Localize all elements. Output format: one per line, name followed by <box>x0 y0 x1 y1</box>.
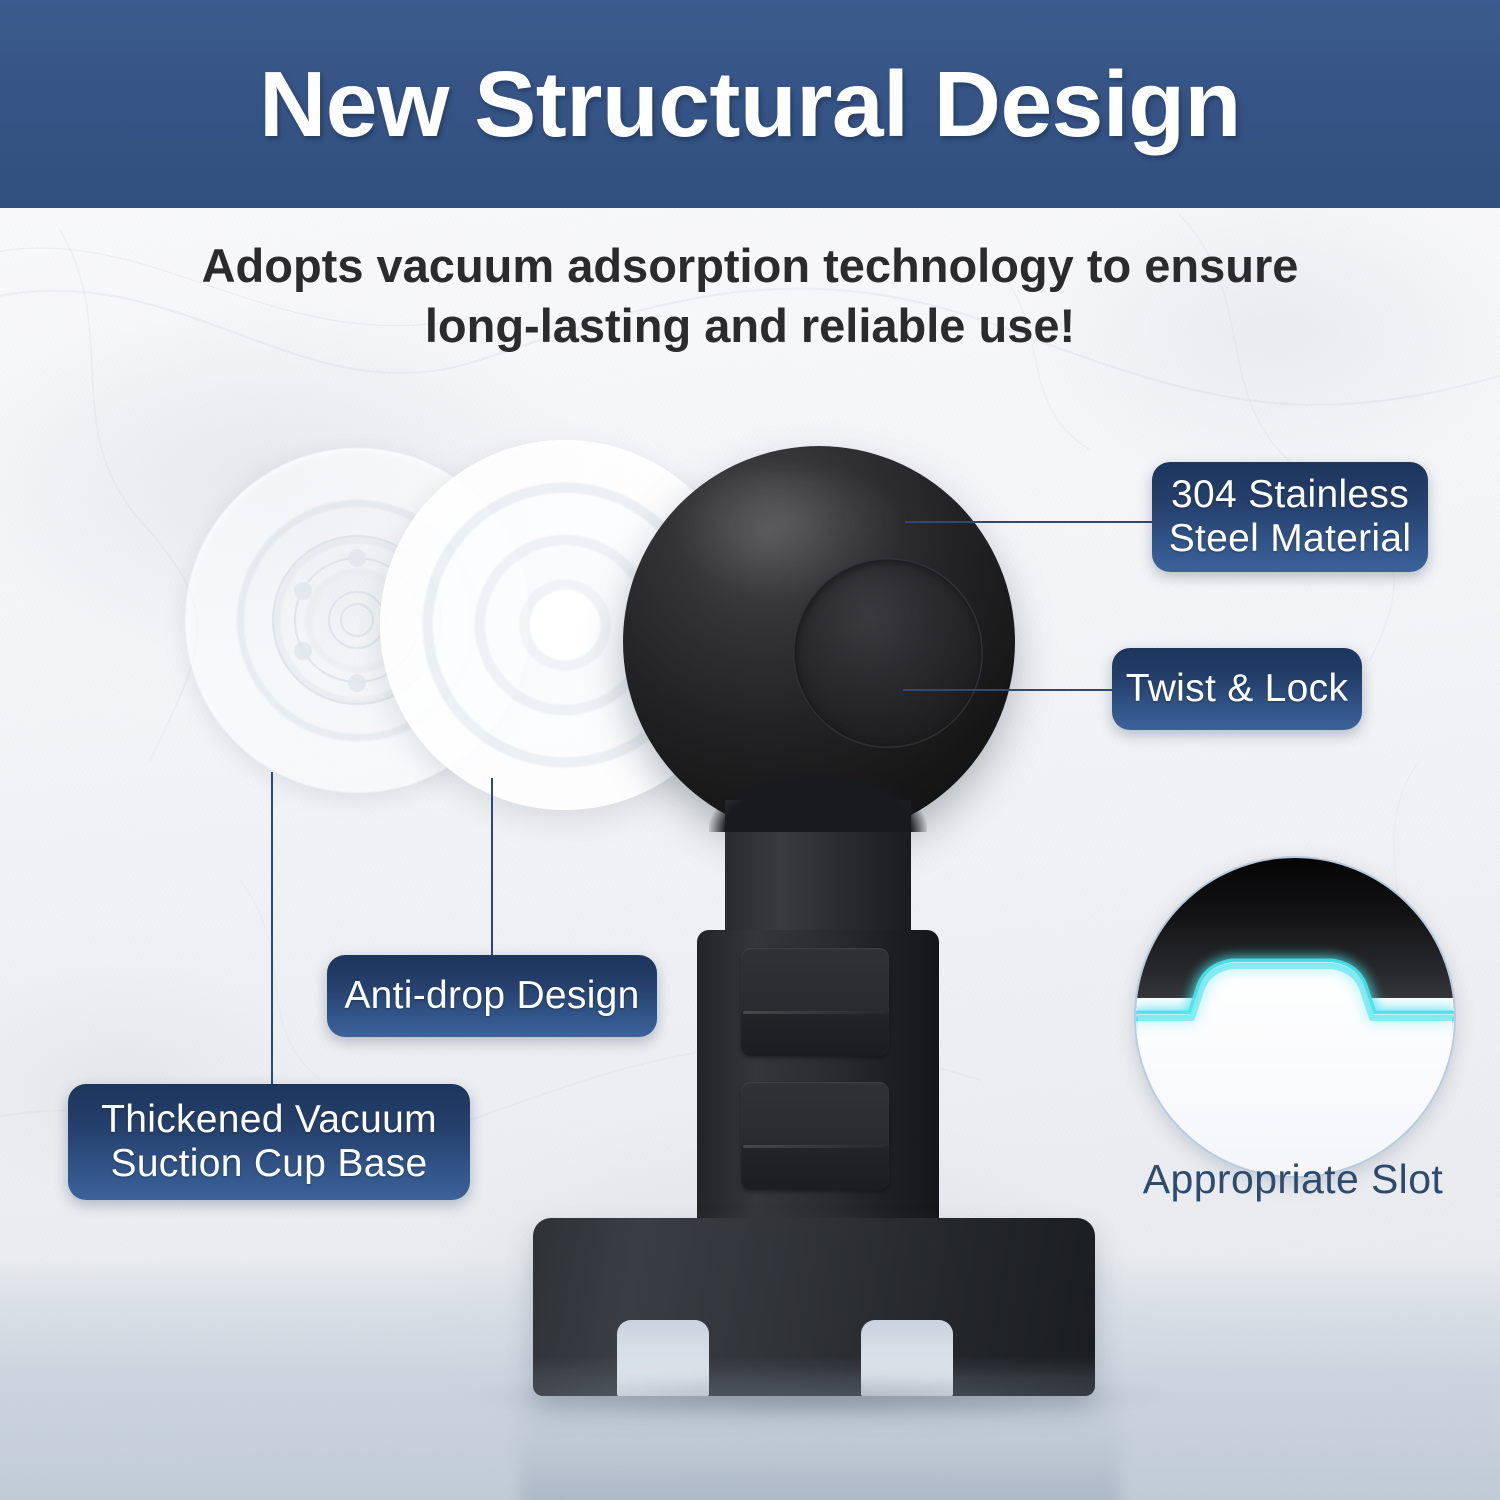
leader-line-antidrop <box>491 778 493 958</box>
leader-line-steel <box>905 521 1155 523</box>
stem-tab-lower <box>741 1082 889 1190</box>
leader-line-twist <box>903 689 1115 691</box>
product-stem <box>697 930 939 1220</box>
product-bracket <box>533 1218 1095 1396</box>
product-illustration <box>0 0 1500 1500</box>
callout-steel-line-2: Steel Material <box>1169 517 1412 561</box>
callout-twist-and-lock[interactable]: Twist & Lock <box>1112 648 1362 730</box>
stem-tab-upper <box>741 948 889 1056</box>
callout-anti-drop-design[interactable]: Anti-drop Design <box>327 955 657 1037</box>
infographic-page: New Structural Design Adopts vacuum adso… <box>0 0 1500 1500</box>
twist-lock-knob <box>793 558 983 748</box>
slot-keyhole-glow-icon <box>1136 858 1454 1176</box>
callout-steel-line-1: 304 Stainless <box>1171 473 1409 517</box>
product-reflection <box>520 1390 1120 1500</box>
appropriate-slot-caption: Appropriate Slot <box>1104 1156 1482 1203</box>
appropriate-slot-detail-circle <box>1134 856 1456 1178</box>
callout-thickened-line-1: Thickened Vacuum <box>101 1098 437 1142</box>
callout-thickened-line-2: Suction Cup Base <box>111 1142 428 1186</box>
callout-thickened-vacuum-suction-cup-base[interactable]: Thickened Vacuum Suction Cup Base <box>68 1084 470 1200</box>
callout-twist-line-1: Twist & Lock <box>1126 667 1349 711</box>
leader-line-thickened <box>271 772 273 1088</box>
callout-antidrop-line-1: Anti-drop Design <box>344 974 639 1018</box>
callout-304-stainless-steel[interactable]: 304 Stainless Steel Material <box>1152 462 1428 572</box>
